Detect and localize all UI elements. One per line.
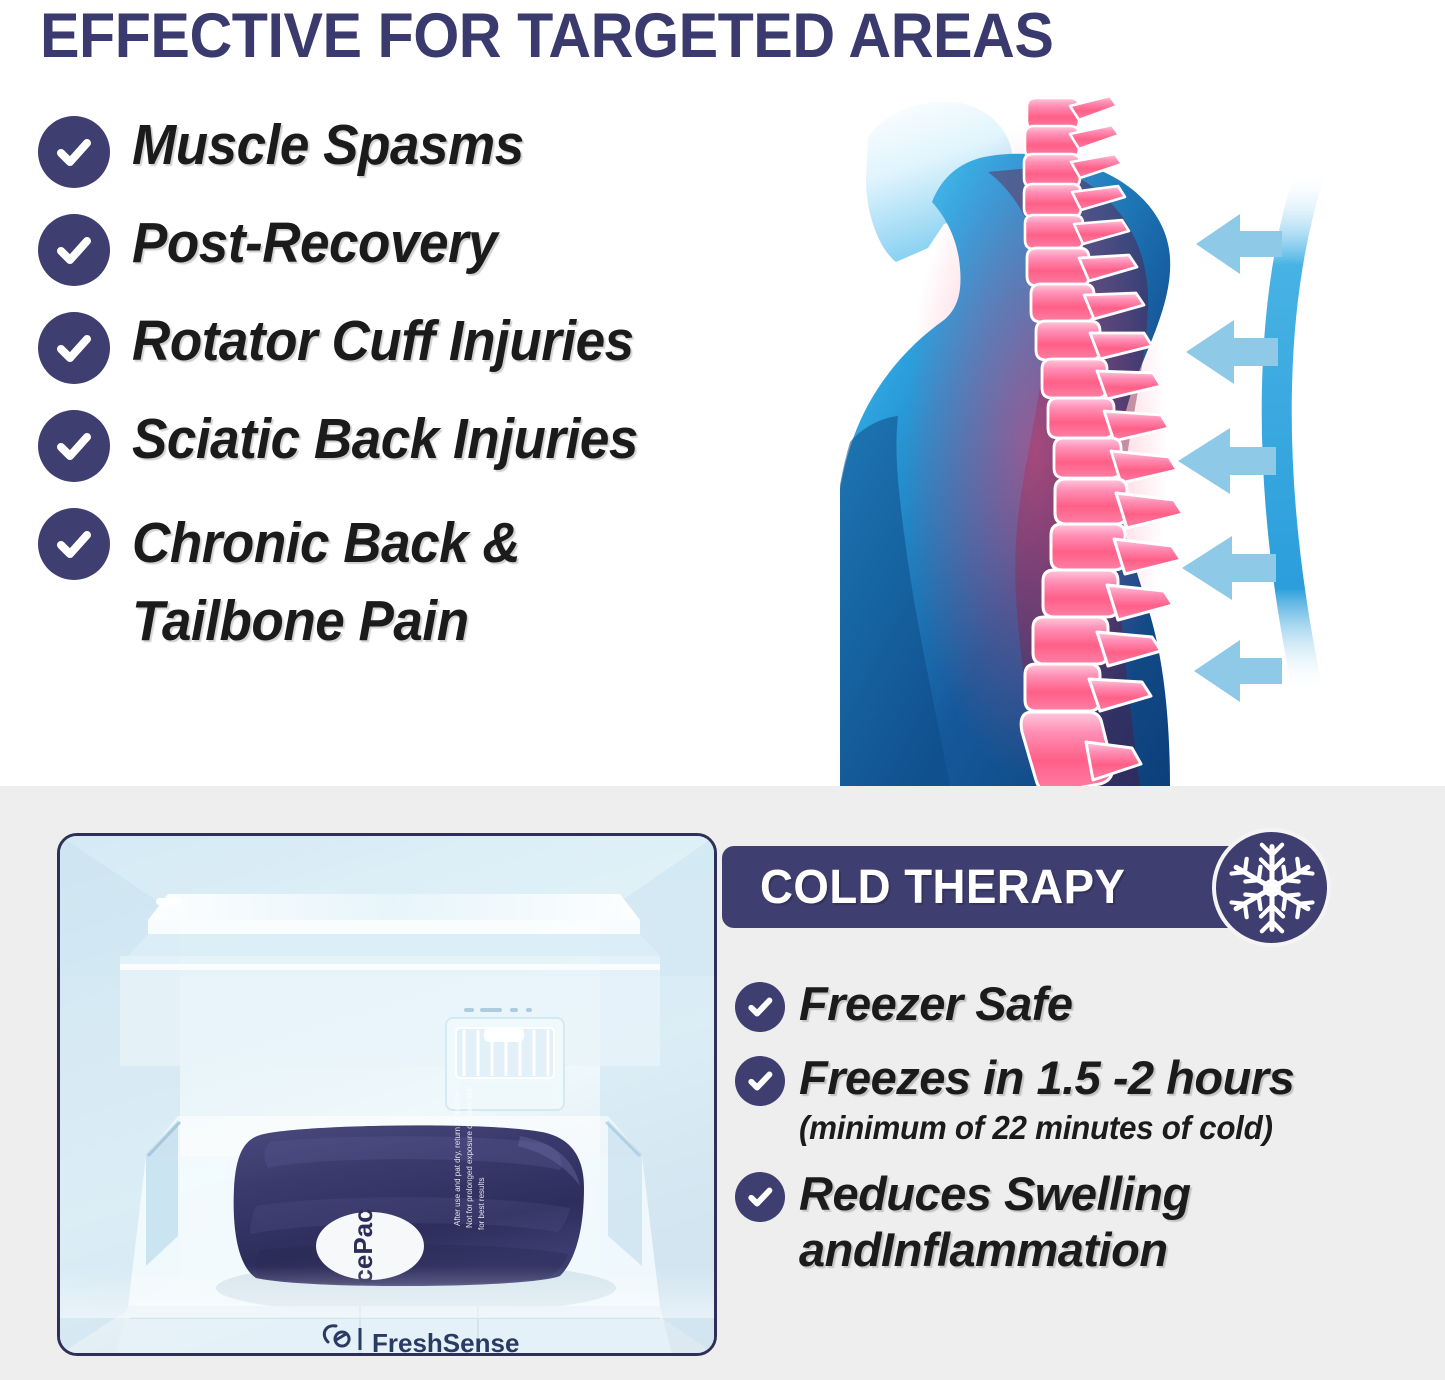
check-circle-icon bbox=[735, 982, 785, 1032]
check-circle-icon bbox=[735, 1056, 785, 1106]
cold-therapy-title: COLD THERAPY bbox=[760, 860, 1125, 915]
cold-therapy-banner: COLD THERAPY bbox=[722, 828, 1322, 946]
snowflake-badge bbox=[1212, 828, 1331, 947]
list-item-note: (minimum of 22 minutes of cold) bbox=[799, 1108, 1273, 1148]
human-spine-anatomy-illustration bbox=[840, 52, 1445, 786]
list-item: Chronic Back & Tailbone Pain bbox=[38, 504, 918, 660]
check-circle-icon bbox=[38, 312, 110, 384]
cold-therapy-list: Freezer Safe Freezes in 1.5 -2 hours (mi… bbox=[735, 976, 1445, 1278]
list-item: Sciatic Back Injuries bbox=[38, 406, 918, 482]
check-circle-icon bbox=[38, 410, 110, 482]
appliance-brand-text: FreshSense bbox=[372, 1328, 519, 1354]
svg-text:for best results: for best results bbox=[477, 1178, 486, 1230]
targeted-areas-section: EFFECTIVE FOR TARGETED AREAS bbox=[0, 0, 1445, 786]
list-item-label: Post-Recovery bbox=[132, 210, 497, 276]
ice-pack-in-freezer-photo: cePac After use and pat dry, return to f… bbox=[57, 833, 717, 1356]
list-item-label: Reduces Swelling andInflammation bbox=[799, 1167, 1191, 1276]
list-item-label: Freezer Safe bbox=[799, 977, 1073, 1030]
list-item: Rotator Cuff Injuries bbox=[38, 308, 918, 384]
snowflake-icon bbox=[1226, 842, 1318, 934]
check-circle-icon bbox=[38, 116, 110, 188]
list-item: Freezes in 1.5 -2 hours (minimum of 22 m… bbox=[735, 1050, 1445, 1148]
list-item: Post-Recovery bbox=[38, 210, 918, 286]
list-item-label: Sciatic Back Injuries bbox=[132, 406, 638, 472]
infographic-root: EFFECTIVE FOR TARGETED AREAS bbox=[0, 0, 1445, 1380]
check-circle-icon bbox=[38, 214, 110, 286]
list-item-label: Rotator Cuff Injuries bbox=[132, 308, 634, 374]
check-circle-icon bbox=[735, 1172, 785, 1222]
svg-text:After use and pat dry, return: After use and pat dry, return to freezer bbox=[453, 1091, 462, 1226]
list-item-label: Muscle Spasms bbox=[132, 112, 524, 178]
list-item: Freezer Safe bbox=[735, 976, 1445, 1032]
list-item-label: Freezes in 1.5 -2 hours bbox=[799, 1051, 1294, 1104]
cold-therapy-banner-bar: COLD THERAPY bbox=[722, 846, 1262, 928]
svg-text:Not for prolonged exposure on: Not for prolonged exposure on bare skin bbox=[465, 1085, 474, 1228]
list-item: Reduces Swelling andInflammation bbox=[735, 1166, 1445, 1278]
check-circle-icon bbox=[38, 508, 110, 580]
list-item: Muscle Spasms bbox=[38, 112, 918, 188]
targeted-areas-list: Muscle Spasms Post-Recovery Rotator Cuff… bbox=[38, 112, 918, 660]
cold-therapy-section: cePac After use and pat dry, return to f… bbox=[0, 786, 1445, 1380]
list-item-label: Chronic Back & Tailbone Pain bbox=[132, 504, 520, 660]
